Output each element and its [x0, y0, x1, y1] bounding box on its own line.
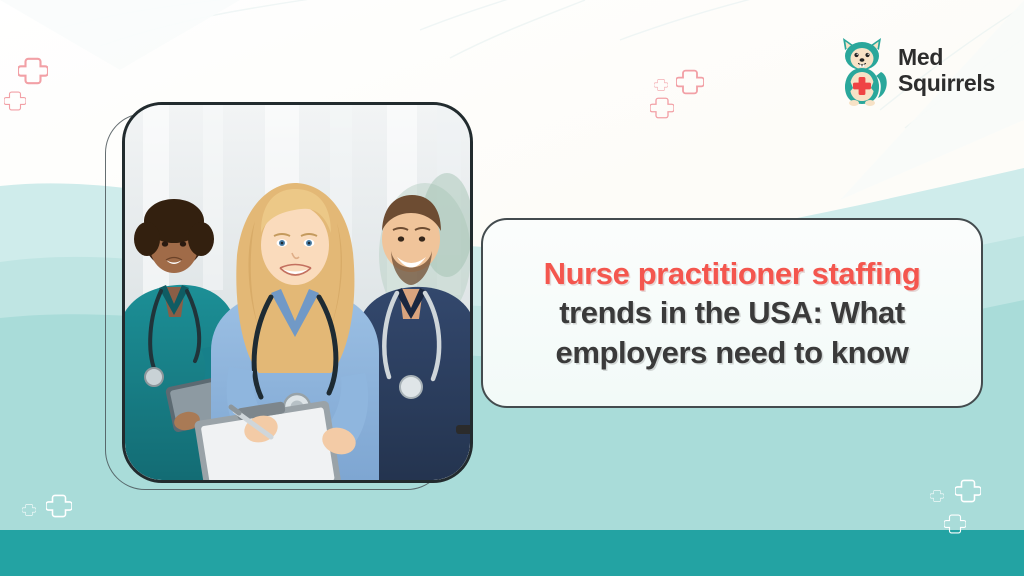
bottom-accent-bar: [0, 530, 1024, 576]
hero-photo: [125, 105, 470, 480]
cross-top-mid-c-icon: [654, 78, 668, 92]
page-title-rest: trends in the USA: What employers need t…: [556, 295, 909, 369]
brand-name-line1: Med: [898, 45, 995, 71]
brand-logo[interactable]: Med Squirrels: [836, 36, 995, 106]
brand-name-line2: Squirrels: [898, 71, 995, 97]
hero-photo-card: [105, 95, 475, 490]
page-title: Nurse practitioner staffing trends in th…: [501, 254, 963, 371]
brand-name: Med Squirrels: [898, 45, 995, 97]
cross-bottom-left-b-icon: [22, 503, 36, 517]
page-title-highlight: Nurse practitioner staffing: [544, 256, 921, 291]
healthcare-team-illustration: [125, 105, 470, 480]
cross-top-mid-b-icon: [650, 96, 674, 120]
cross-bottom-right-a-icon: [955, 478, 981, 504]
headline-card: Nurse practitioner staffing trends in th…: [481, 218, 983, 408]
cross-top-left-b-icon: [4, 90, 26, 112]
cross-top-mid-a-icon: [676, 68, 704, 96]
photo-frame: [122, 102, 473, 483]
cross-bottom-left-a-icon: [46, 493, 72, 519]
squirrel-mascot-icon: [836, 36, 888, 106]
cross-bottom-right-c-icon: [944, 513, 966, 535]
cross-bottom-right-b-icon: [930, 489, 944, 503]
cross-top-left-a-icon: [18, 56, 48, 86]
hero-banner: Med Squirrels: [0, 0, 1024, 576]
